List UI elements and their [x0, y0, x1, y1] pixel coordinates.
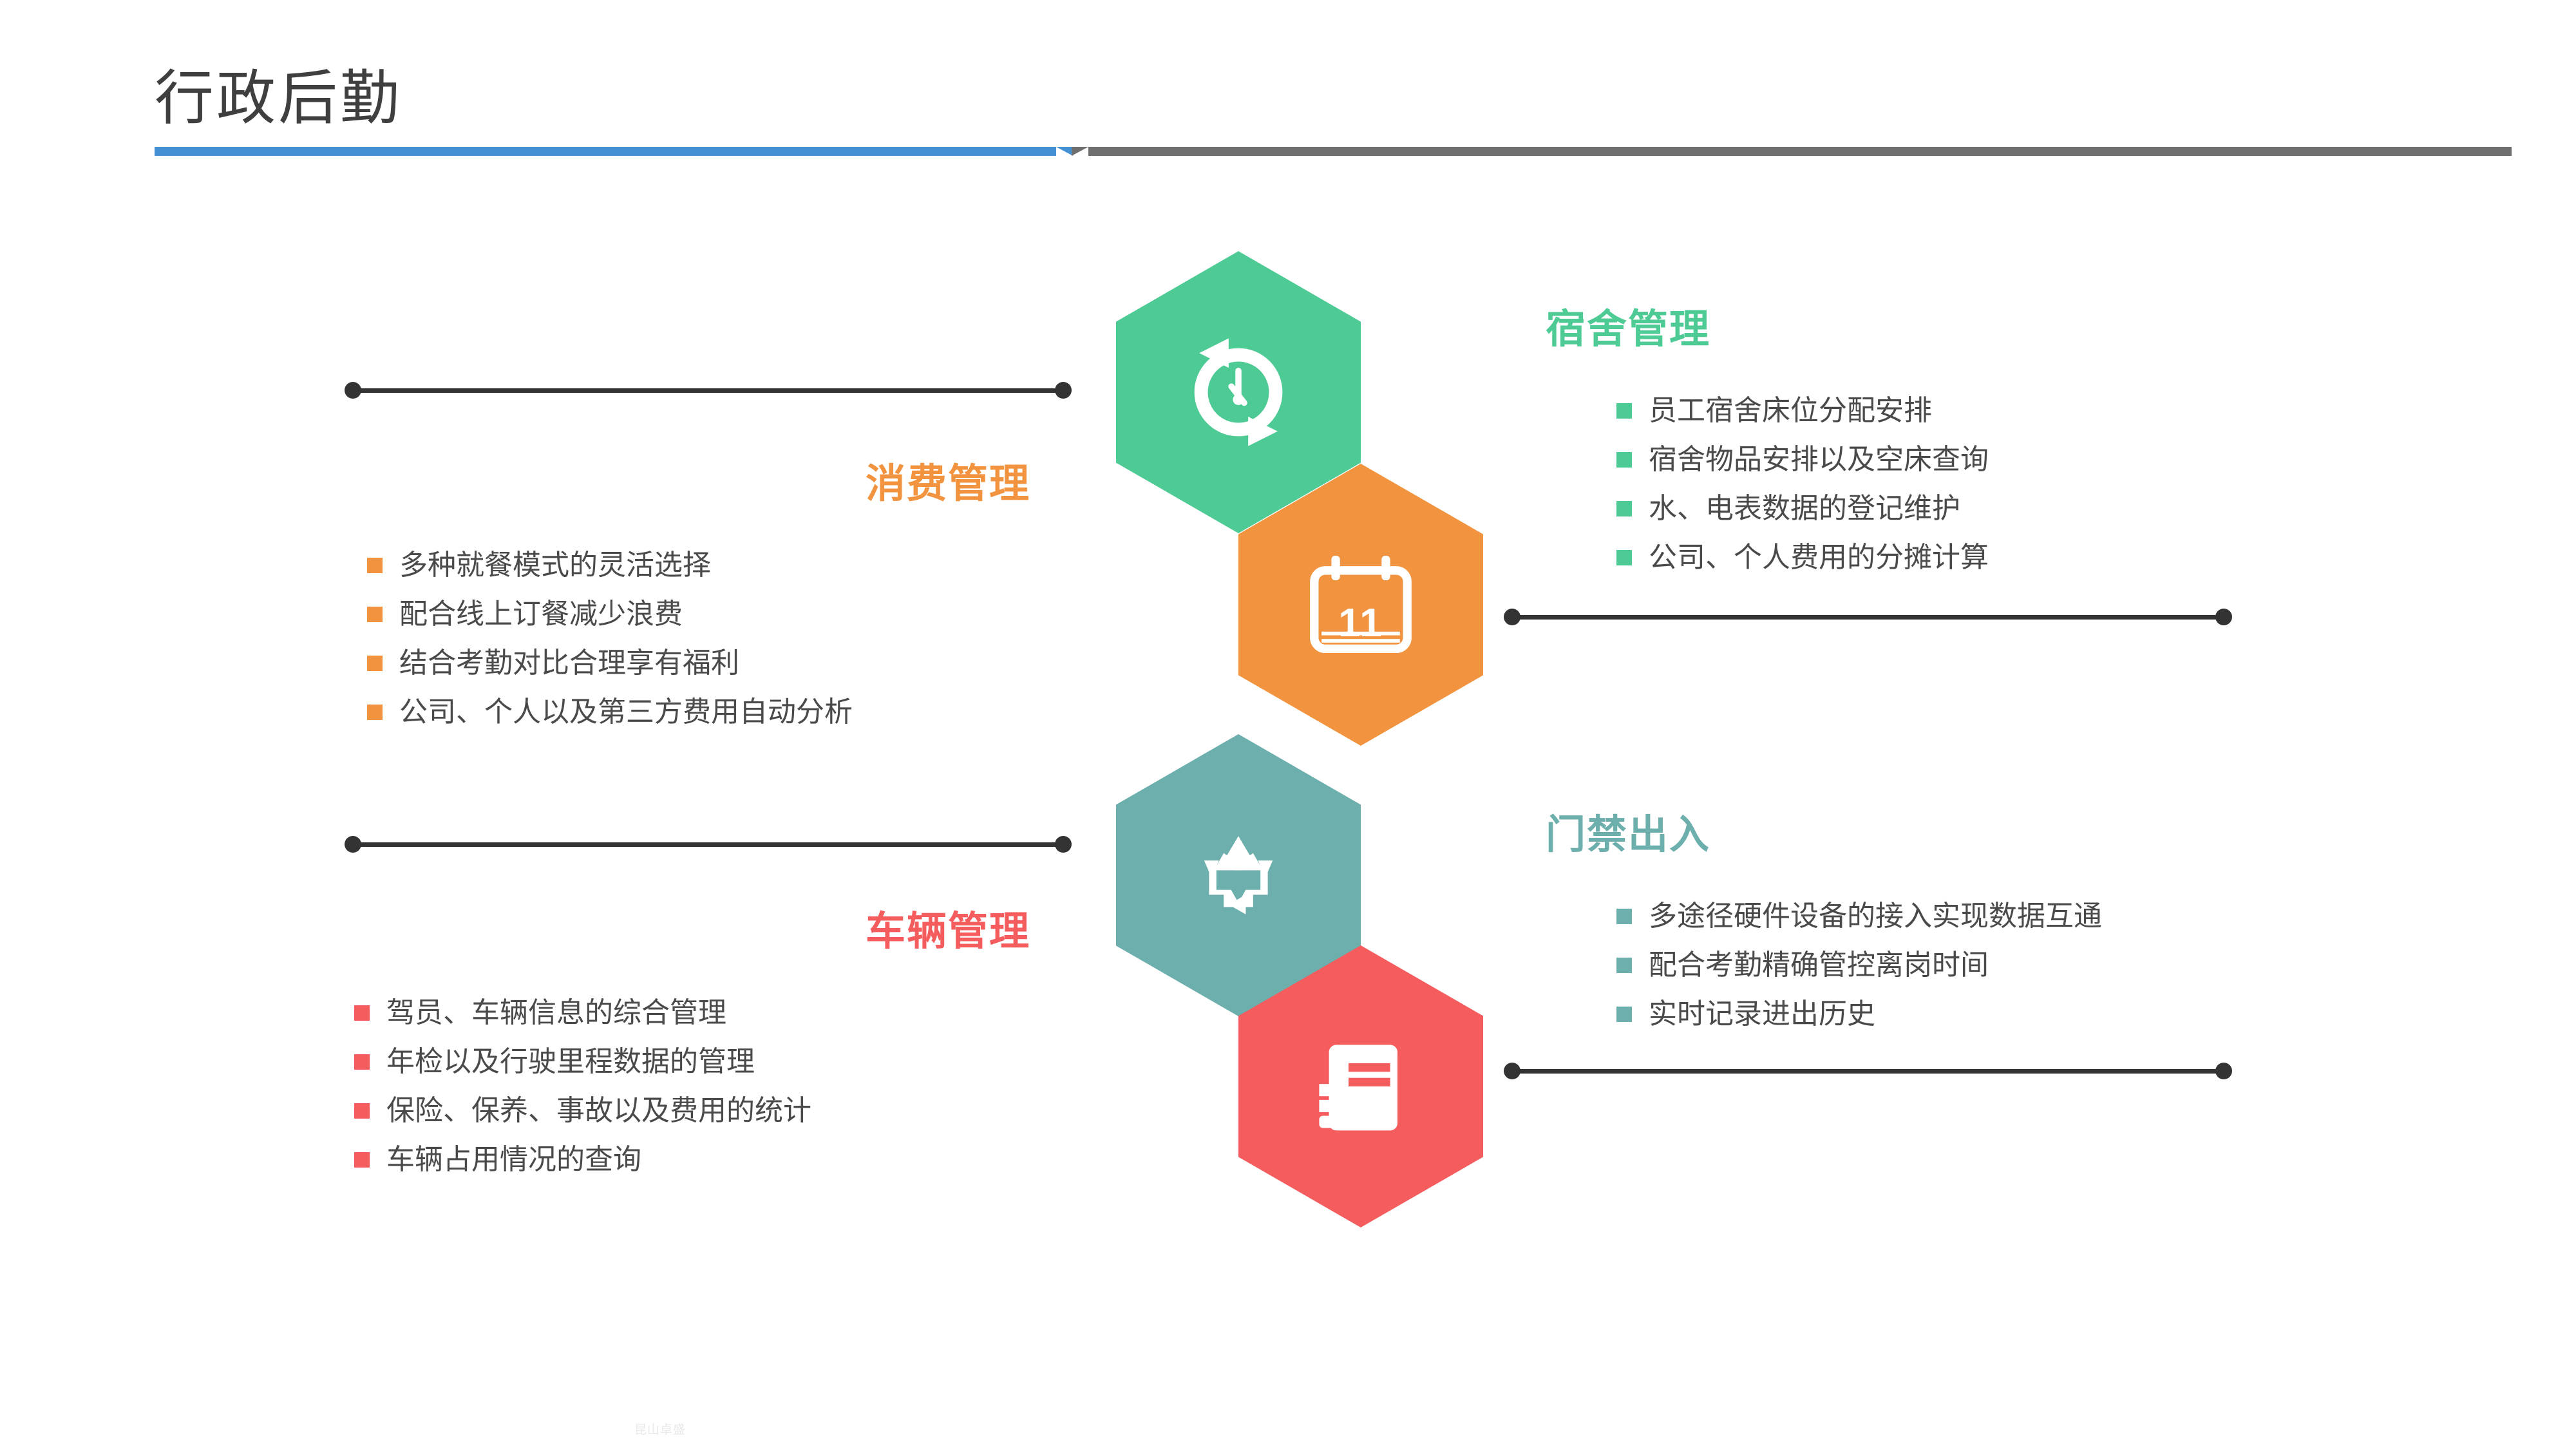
- list-item: 驾员、车辆信息的综合管理: [354, 999, 1043, 1027]
- bullet-marker: [1616, 909, 1632, 924]
- section-dining: 消费管理 多种就餐模式的灵活选择 配合线上订餐减少浪费 结合考勤对比合理享有福利…: [193, 451, 1043, 747]
- list-item: 配合线上订餐减少浪费: [367, 600, 1043, 629]
- section-heading-vehicle: 车辆管理: [193, 898, 1043, 956]
- bullet-list-dorm: 员工宿舍床位分配安排 宿舍物品安排以及空床查询 水、电表数据的登记维护 公司、个…: [1546, 397, 2447, 572]
- list-item: 实时记录进出历史: [1616, 1000, 2447, 1028]
- list-item: 多途径硬件设备的接入实现数据互通: [1616, 902, 2447, 931]
- connector-line-access: [1512, 1069, 2224, 1074]
- bullet-text: 配合考勤精确管控离岗时间: [1649, 951, 1989, 980]
- connector-line-dorm: [1512, 615, 2224, 620]
- bullet-marker: [367, 607, 383, 622]
- section-vehicle: 车辆管理 驾员、车辆信息的综合管理 年检以及行驶里程数据的管理 保险、保养、事故…: [193, 898, 1043, 1195]
- bullet-text: 配合线上订餐减少浪费: [399, 600, 683, 629]
- section-heading-dorm: 宿舍管理: [1546, 296, 2447, 354]
- bullet-marker: [354, 1152, 370, 1168]
- bullet-marker: [354, 1103, 370, 1119]
- list-item: 保险、保养、事故以及费用的统计: [354, 1097, 1043, 1125]
- bullet-marker: [367, 705, 383, 720]
- connector-dot-right: [1055, 836, 1072, 853]
- bullet-text: 驾员、车辆信息的综合管理: [386, 999, 726, 1027]
- watermark: 昆山卓盛: [634, 1420, 686, 1437]
- bullet-list-access: 多途径硬件设备的接入实现数据互通 配合考勤精确管控离岗时间 实时记录进出历史: [1546, 902, 2447, 1028]
- calendar-day-label: 11: [1300, 600, 1422, 646]
- list-item: 车辆占用情况的查询: [354, 1146, 1043, 1174]
- bullet-text: 多途径硬件设备的接入实现数据互通: [1649, 902, 2102, 931]
- list-item: 配合考勤精确管控离岗时间: [1616, 951, 2447, 980]
- notebook-icon: [1300, 1025, 1422, 1148]
- bullet-text: 结合考勤对比合理享有福利: [399, 649, 739, 677]
- section-heading-access: 门禁出入: [1546, 802, 2447, 860]
- bullet-marker: [1616, 452, 1632, 468]
- bullet-text: 宿舍物品安排以及空床查询: [1649, 446, 1989, 474]
- title-rule-blue: [155, 147, 1056, 156]
- bullet-list-vehicle: 驾员、车辆信息的综合管理 年检以及行驶里程数据的管理 保险、保养、事故以及费用的…: [193, 999, 1043, 1174]
- list-item: 多种就餐模式的灵活选择: [367, 551, 1043, 580]
- bullet-marker: [1616, 501, 1632, 516]
- connector-dot-right: [1055, 382, 1072, 399]
- list-item: 水、电表数据的登记维护: [1616, 495, 2447, 523]
- connector-dot-right: [2215, 1063, 2232, 1079]
- bullet-text: 实时记录进出历史: [1649, 1000, 1875, 1028]
- bullet-text: 公司、个人费用的分摊计算: [1649, 544, 1989, 572]
- bullet-list-dining: 多种就餐模式的灵活选择 配合线上订餐减少浪费 结合考勤对比合理享有福利 公司、个…: [193, 551, 1043, 726]
- connector-line-vehicle: [353, 842, 1063, 847]
- bullet-text: 保险、保养、事故以及费用的统计: [386, 1097, 811, 1125]
- bullet-text: 公司、个人以及第三方费用自动分析: [399, 698, 853, 726]
- bullet-text: 年检以及行驶里程数据的管理: [386, 1048, 755, 1076]
- bullet-marker: [1616, 550, 1632, 565]
- bullet-text: 车辆占用情况的查询: [386, 1146, 641, 1174]
- bullet-marker: [1616, 958, 1632, 973]
- bullet-marker: [1616, 403, 1632, 419]
- section-heading-dining: 消费管理: [193, 451, 1043, 509]
- list-item: 公司、个人以及第三方费用自动分析: [367, 698, 1043, 726]
- bullet-marker: [367, 558, 383, 573]
- bullet-marker: [1616, 1007, 1632, 1022]
- title-rule-grey: [1088, 147, 2512, 156]
- bullet-marker: [354, 1054, 370, 1070]
- bullet-text: 水、电表数据的登记维护: [1649, 495, 1960, 523]
- connector-dot-right: [2215, 609, 2232, 625]
- connector-dot-left: [1504, 1063, 1520, 1079]
- list-item: 员工宿舍床位分配安排: [1616, 397, 2447, 425]
- connector-line-dining: [353, 388, 1063, 393]
- list-item: 年检以及行驶里程数据的管理: [354, 1048, 1043, 1076]
- section-dorm: 宿舍管理 员工宿舍床位分配安排 宿舍物品安排以及空床查询 水、电表数据的登记维护…: [1546, 296, 2447, 592]
- list-item: 宿舍物品安排以及空床查询: [1616, 446, 2447, 474]
- page-title: 行政后勤: [155, 50, 402, 136]
- bullet-text: 员工宿舍床位分配安排: [1649, 397, 1932, 425]
- bullet-text: 多种就餐模式的灵活选择: [399, 551, 711, 580]
- recycle-icon: [1177, 814, 1300, 936]
- list-item: 结合考勤对比合理享有福利: [367, 649, 1043, 677]
- section-access: 门禁出入 多途径硬件设备的接入实现数据互通 配合考勤精确管控离岗时间 实时记录进…: [1546, 802, 2447, 1049]
- list-item: 公司、个人费用的分摊计算: [1616, 544, 2447, 572]
- bullet-marker: [367, 656, 383, 671]
- bullet-marker: [354, 1005, 370, 1021]
- connector-dot-left: [345, 382, 361, 399]
- clock-refresh-icon: [1177, 331, 1300, 453]
- connector-dot-left: [345, 836, 361, 853]
- connector-dot-left: [1504, 609, 1520, 625]
